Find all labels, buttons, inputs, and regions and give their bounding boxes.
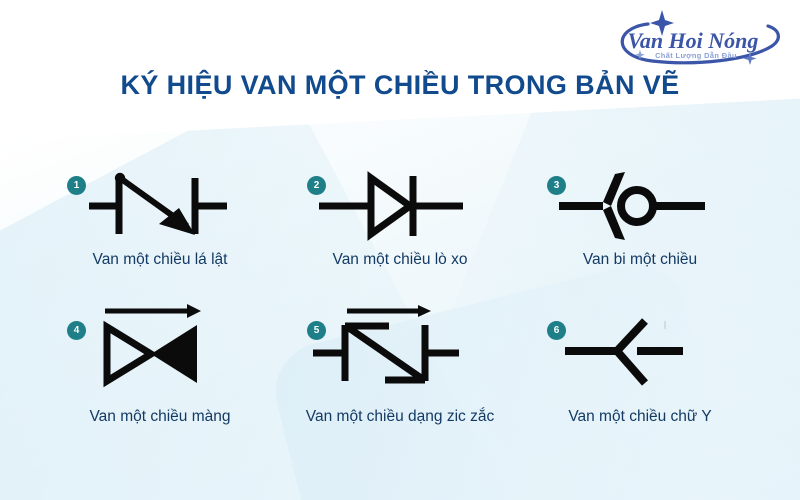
symbol-card-1[interactable]: 1 <box>40 150 280 295</box>
badge-number-5: 5 <box>307 321 326 340</box>
spring-check-valve-symbol <box>285 150 515 245</box>
symbol-figure-2: 2 <box>285 150 515 245</box>
brand-tagline: Chất Lượng Dẫn Đầu <box>655 51 737 60</box>
symbol-card-5[interactable]: 5 <box>280 295 520 440</box>
symbol-figure-4: 4 <box>45 295 275 390</box>
ball-check-valve-symbol <box>525 150 755 245</box>
badge-number-1: 1 <box>67 176 86 195</box>
symbol-figure-6: 6 <box>525 295 755 390</box>
page-title: KÝ HIỆU VAN MỘT CHIỀU TRONG BẢN VẼ <box>0 70 800 101</box>
zigzag-check-valve-symbol <box>285 295 515 390</box>
symbol-card-6[interactable]: 6 Van một chiều c <box>520 295 760 440</box>
symbol-caption-2: Van một chiều lò xo <box>333 251 468 269</box>
brand-name: Van Hoi Nóng <box>628 28 759 53</box>
badge-number-4: 4 <box>67 321 86 340</box>
symbol-figure-5: 5 <box>285 295 515 390</box>
diaphragm-check-valve-symbol <box>45 295 275 390</box>
symbol-caption-1: Van một chiều lá lật <box>93 251 228 269</box>
symbol-caption-3: Van bi một chiều <box>583 251 697 269</box>
symbol-card-3[interactable]: 3 Van bi một chiề <box>520 150 760 295</box>
brand-logo[interactable]: Van Hoi Nóng Chất Lượng Dẫn Đầu <box>600 6 786 68</box>
symbol-card-4[interactable]: 4 Van một chiều màng <box>40 295 280 440</box>
symbol-grid: 1 <box>40 150 760 440</box>
symbol-caption-6: Van một chiều chữ Y <box>568 408 711 426</box>
y-check-valve-symbol <box>525 295 755 390</box>
poster-canvas: Van Hoi Nóng Chất Lượng Dẫn Đầu KÝ HIỆU … <box>0 0 800 500</box>
symbol-figure-3: 3 <box>525 150 755 245</box>
badge-number-6: 6 <box>547 321 566 340</box>
swing-check-valve-symbol <box>45 150 275 245</box>
symbol-caption-4: Van một chiều màng <box>89 408 230 426</box>
badge-number-2: 2 <box>307 176 326 195</box>
symbol-figure-1: 1 <box>45 150 275 245</box>
symbol-caption-5: Van một chiều dạng zic zắc <box>306 408 494 426</box>
badge-number-3: 3 <box>547 176 566 195</box>
brand-logo-svg: Van Hoi Nóng Chất Lượng Dẫn Đầu <box>600 6 786 68</box>
symbol-card-2[interactable]: 2 Van một chiều lò xo <box>280 150 520 295</box>
